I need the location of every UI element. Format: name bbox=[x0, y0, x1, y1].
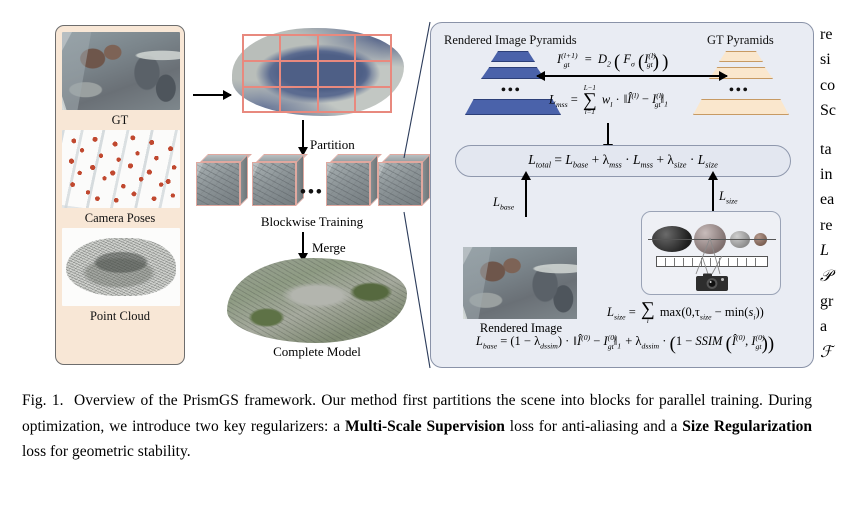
partition-grid-overlay-icon bbox=[242, 34, 392, 112]
rcol-line: 𝒫 bbox=[820, 264, 863, 289]
caption-prefix: Fig. 1. bbox=[22, 392, 63, 409]
title-rendered-image-pyramids: Rendered Image Pyramids bbox=[444, 33, 577, 48]
caption-line1: Overview of the PrismGS framework. Our m… bbox=[74, 392, 515, 409]
rcol-line: ta bbox=[820, 137, 863, 162]
label-merge: Merge bbox=[312, 240, 346, 256]
rcol-line: gr bbox=[820, 289, 863, 314]
block-cube bbox=[326, 162, 370, 206]
complete-model-render bbox=[227, 258, 407, 343]
rcol-line: re bbox=[820, 213, 863, 238]
rendered-image-photo bbox=[463, 247, 577, 319]
rcol-line: a bbox=[820, 314, 863, 339]
title-gt-pyramids: GT Pyramids bbox=[707, 33, 774, 48]
input-label-gt: GT bbox=[62, 110, 178, 130]
rcol-line: re bbox=[820, 22, 863, 47]
rendered-image-pyramid: ••• bbox=[465, 51, 561, 127]
label-loss-base: Lbase bbox=[493, 195, 514, 212]
rcol-line: Sc bbox=[820, 98, 863, 123]
rcol-line: in bbox=[820, 162, 863, 187]
figure-caption: Fig. 1. Overview of the PrismGS framewor… bbox=[22, 388, 812, 465]
caption-bold-multiscale: Multi-Scale Supervision bbox=[345, 418, 505, 435]
arrow-pyramid-bidirectional-icon bbox=[537, 75, 727, 77]
label-partition: Partition bbox=[310, 137, 355, 153]
arrow-size-to-total-icon bbox=[712, 179, 714, 211]
gt-pyramid-ellipsis: ••• bbox=[729, 83, 750, 99]
rcol-paragraph-gap bbox=[820, 124, 863, 137]
input-label-camera-poses: Camera Poses bbox=[62, 208, 178, 228]
aerial-scene-partition-grid bbox=[232, 28, 404, 116]
arrow-mss-to-total-icon bbox=[607, 123, 609, 145]
figure-1-diagram: GT Camera Poses Point Cloud bbox=[0, 0, 818, 372]
rcol-line: ℱ bbox=[820, 340, 863, 365]
equation-base-loss: Lbase = (1 − λdssim) · ‖Î(0) − I(0)gt‖1 … bbox=[439, 333, 811, 355]
rcol-line: si bbox=[820, 47, 863, 72]
arrow-merge-icon bbox=[302, 232, 304, 254]
aerial-ground-truth-photo bbox=[62, 32, 180, 110]
arrow-base-to-total-icon bbox=[525, 179, 527, 217]
gt-pyramid: ••• bbox=[693, 51, 789, 127]
blockwise-cubes-row: ••• bbox=[196, 160, 426, 212]
right-column-text: re si co Sc ta in ea re L 𝒫 gr a ℱ bbox=[820, 22, 863, 530]
equation-total-loss-box: Ltotal = Lbase + λmss · Lmss + λsize · L… bbox=[455, 145, 791, 177]
rendered-pyramid-ellipsis: ••• bbox=[501, 83, 522, 99]
block-cube bbox=[196, 162, 240, 206]
equation-mss: Lmss = L−1 ∑ l=1 wl · ‖Î(l) − I(l)gt‖1 bbox=[549, 85, 669, 116]
arrow-inputs-to-scene-icon bbox=[193, 94, 231, 96]
input-label-point-cloud: Point Cloud bbox=[62, 306, 178, 326]
arrow-partition-icon bbox=[302, 120, 304, 148]
label-blockwise-training: Blockwise Training bbox=[232, 214, 392, 230]
rcol-line: L bbox=[820, 238, 863, 263]
complete-model-blob bbox=[227, 258, 407, 343]
input-item-point-cloud: Point Cloud bbox=[62, 228, 178, 326]
camera-icon bbox=[695, 272, 729, 292]
caption-line3-b: loss for anti-aliasing and a bbox=[505, 418, 682, 435]
blockwise-ellipsis: ••• bbox=[300, 182, 324, 202]
input-item-camera-poses: Camera Poses bbox=[62, 130, 178, 228]
camera-poses-visualization bbox=[62, 130, 180, 208]
caption-bold-size: Size bbox=[682, 418, 709, 435]
block-cube bbox=[252, 162, 296, 206]
size-regularization-illustration bbox=[641, 211, 781, 295]
rcol-line: co bbox=[820, 73, 863, 98]
inputs-panel: GT Camera Poses Point Cloud bbox=[55, 25, 185, 365]
equation-downsample: I(l+1)gt = D2 ( Fσ (I(l)gt) ) bbox=[557, 51, 668, 73]
figure-page: GT Camera Poses Point Cloud bbox=[0, 0, 863, 530]
label-complete-model: Complete Model bbox=[227, 344, 407, 360]
caption-line3-a: key regularizers: a bbox=[224, 418, 345, 435]
caption-line4-b: loss for geometric stability. bbox=[22, 443, 191, 460]
label-loss-size: Lsize bbox=[719, 189, 738, 206]
input-item-gt: GT bbox=[62, 32, 178, 130]
rcol-line: ea bbox=[820, 187, 863, 212]
caption-bold-regularization: Regularization bbox=[714, 418, 812, 435]
equation-size-loss: Lsize = ∑i max(0,τsize − min(si)) bbox=[607, 301, 764, 325]
block-cube bbox=[378, 162, 422, 206]
method-panel: Rendered Image Pyramids GT Pyramids ••• … bbox=[430, 22, 814, 368]
point-cloud-visualization bbox=[62, 228, 180, 306]
